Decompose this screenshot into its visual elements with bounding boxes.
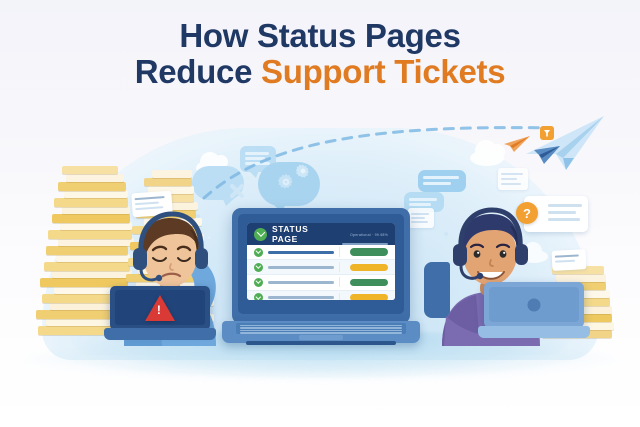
laptop-screen xyxy=(489,287,579,322)
laptop-lid: STATUS PAGE Operational · 99.98% xyxy=(232,208,410,324)
laptop-base xyxy=(478,326,590,338)
laptop-foot xyxy=(246,341,396,345)
warning-triangle-icon xyxy=(145,295,175,321)
headline-line-1: How Status Pages xyxy=(0,18,640,54)
check-circle-icon xyxy=(254,293,263,300)
status-page-header: STATUS PAGE Operational · 99.98% xyxy=(247,223,395,245)
laptop-trackpad xyxy=(299,335,343,340)
status-page-screen: STATUS PAGE Operational · 99.98% xyxy=(247,223,395,300)
row-divider xyxy=(339,247,340,257)
laptop-screen xyxy=(115,290,205,325)
gear-icon xyxy=(276,172,296,192)
status-row[interactable] xyxy=(247,291,395,300)
laptop-keyboard xyxy=(236,323,406,334)
status-badge xyxy=(350,248,388,256)
row-divider xyxy=(339,277,340,287)
gear-icon xyxy=(296,164,310,178)
paper-plane-group xyxy=(500,108,612,192)
status-badge xyxy=(350,279,388,287)
check-circle-icon xyxy=(254,228,267,241)
check-circle-icon xyxy=(254,263,263,272)
service-name-bar xyxy=(268,266,334,269)
headline: How Status Pages Reduce Support Tickets xyxy=(0,18,640,91)
agent-laptop-left xyxy=(104,286,216,342)
status-row[interactable] xyxy=(247,260,395,275)
laptop-lid xyxy=(484,282,584,328)
laptop-base xyxy=(222,321,420,343)
laptop-base xyxy=(104,328,216,340)
laptop-bezel: STATUS PAGE Operational · 99.98% xyxy=(238,214,404,314)
status-row[interactable] xyxy=(247,245,395,260)
headline-line-2-accent: Support Tickets xyxy=(261,53,505,90)
status-page-title: STATUS PAGE xyxy=(272,224,337,244)
headline-line-2-plain: Reduce xyxy=(135,53,261,90)
paper-plane-icon xyxy=(504,136,530,152)
status-badge xyxy=(350,264,388,272)
floor-glow xyxy=(20,342,620,382)
status-badge xyxy=(350,294,388,300)
illustration-canvas: How Status Pages Reduce Support Tickets xyxy=(0,0,640,427)
service-name-bar xyxy=(268,296,334,299)
status-row-list xyxy=(247,245,395,300)
status-page-laptop: STATUS PAGE Operational · 99.98% xyxy=(222,208,420,346)
paper-plane-icon xyxy=(526,116,604,170)
row-divider xyxy=(339,293,340,300)
check-circle-icon xyxy=(254,278,263,287)
service-name-bar xyxy=(268,251,334,254)
status-row[interactable] xyxy=(247,275,395,290)
status-page-meta-text: Operational · 99.98% xyxy=(350,233,388,237)
check-circle-icon xyxy=(254,248,263,257)
agent-laptop-right xyxy=(478,282,590,340)
laptop-logo xyxy=(528,298,541,311)
headline-line-2: Reduce Support Tickets xyxy=(0,54,640,90)
status-page-meta: Operational · 99.98% xyxy=(342,223,388,245)
row-divider xyxy=(339,262,340,272)
laptop-lid xyxy=(110,286,210,330)
service-name-bar xyxy=(268,281,334,284)
